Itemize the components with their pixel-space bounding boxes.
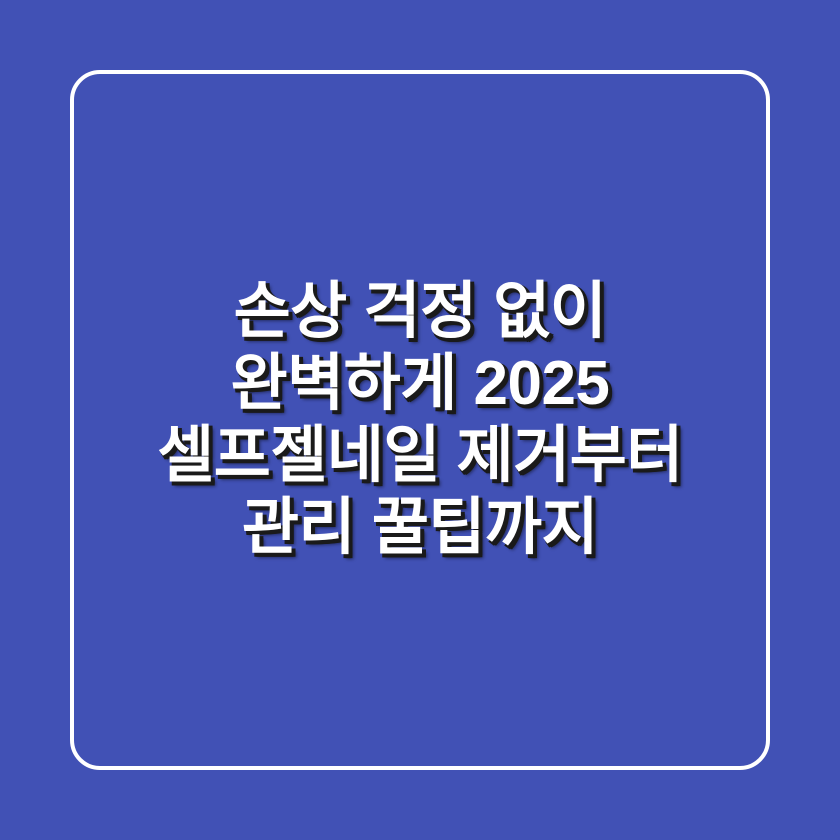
headline-line-4: 관리 꿀팁까지 [242, 492, 598, 564]
headline-line-1: 손상 걱정 없이 [234, 276, 607, 348]
headline-text-block: 손상 걱정 없이 완벽하게 2025 셀프젤네일 제거부터 관리 꿀팁까지 [0, 0, 840, 840]
headline-line-2: 완벽하게 2025 [231, 348, 610, 420]
thumbnail-card: 손상 걱정 없이 완벽하게 2025 셀프젤네일 제거부터 관리 꿀팁까지 [0, 0, 840, 840]
headline-line-3: 셀프젤네일 제거부터 [157, 420, 683, 492]
